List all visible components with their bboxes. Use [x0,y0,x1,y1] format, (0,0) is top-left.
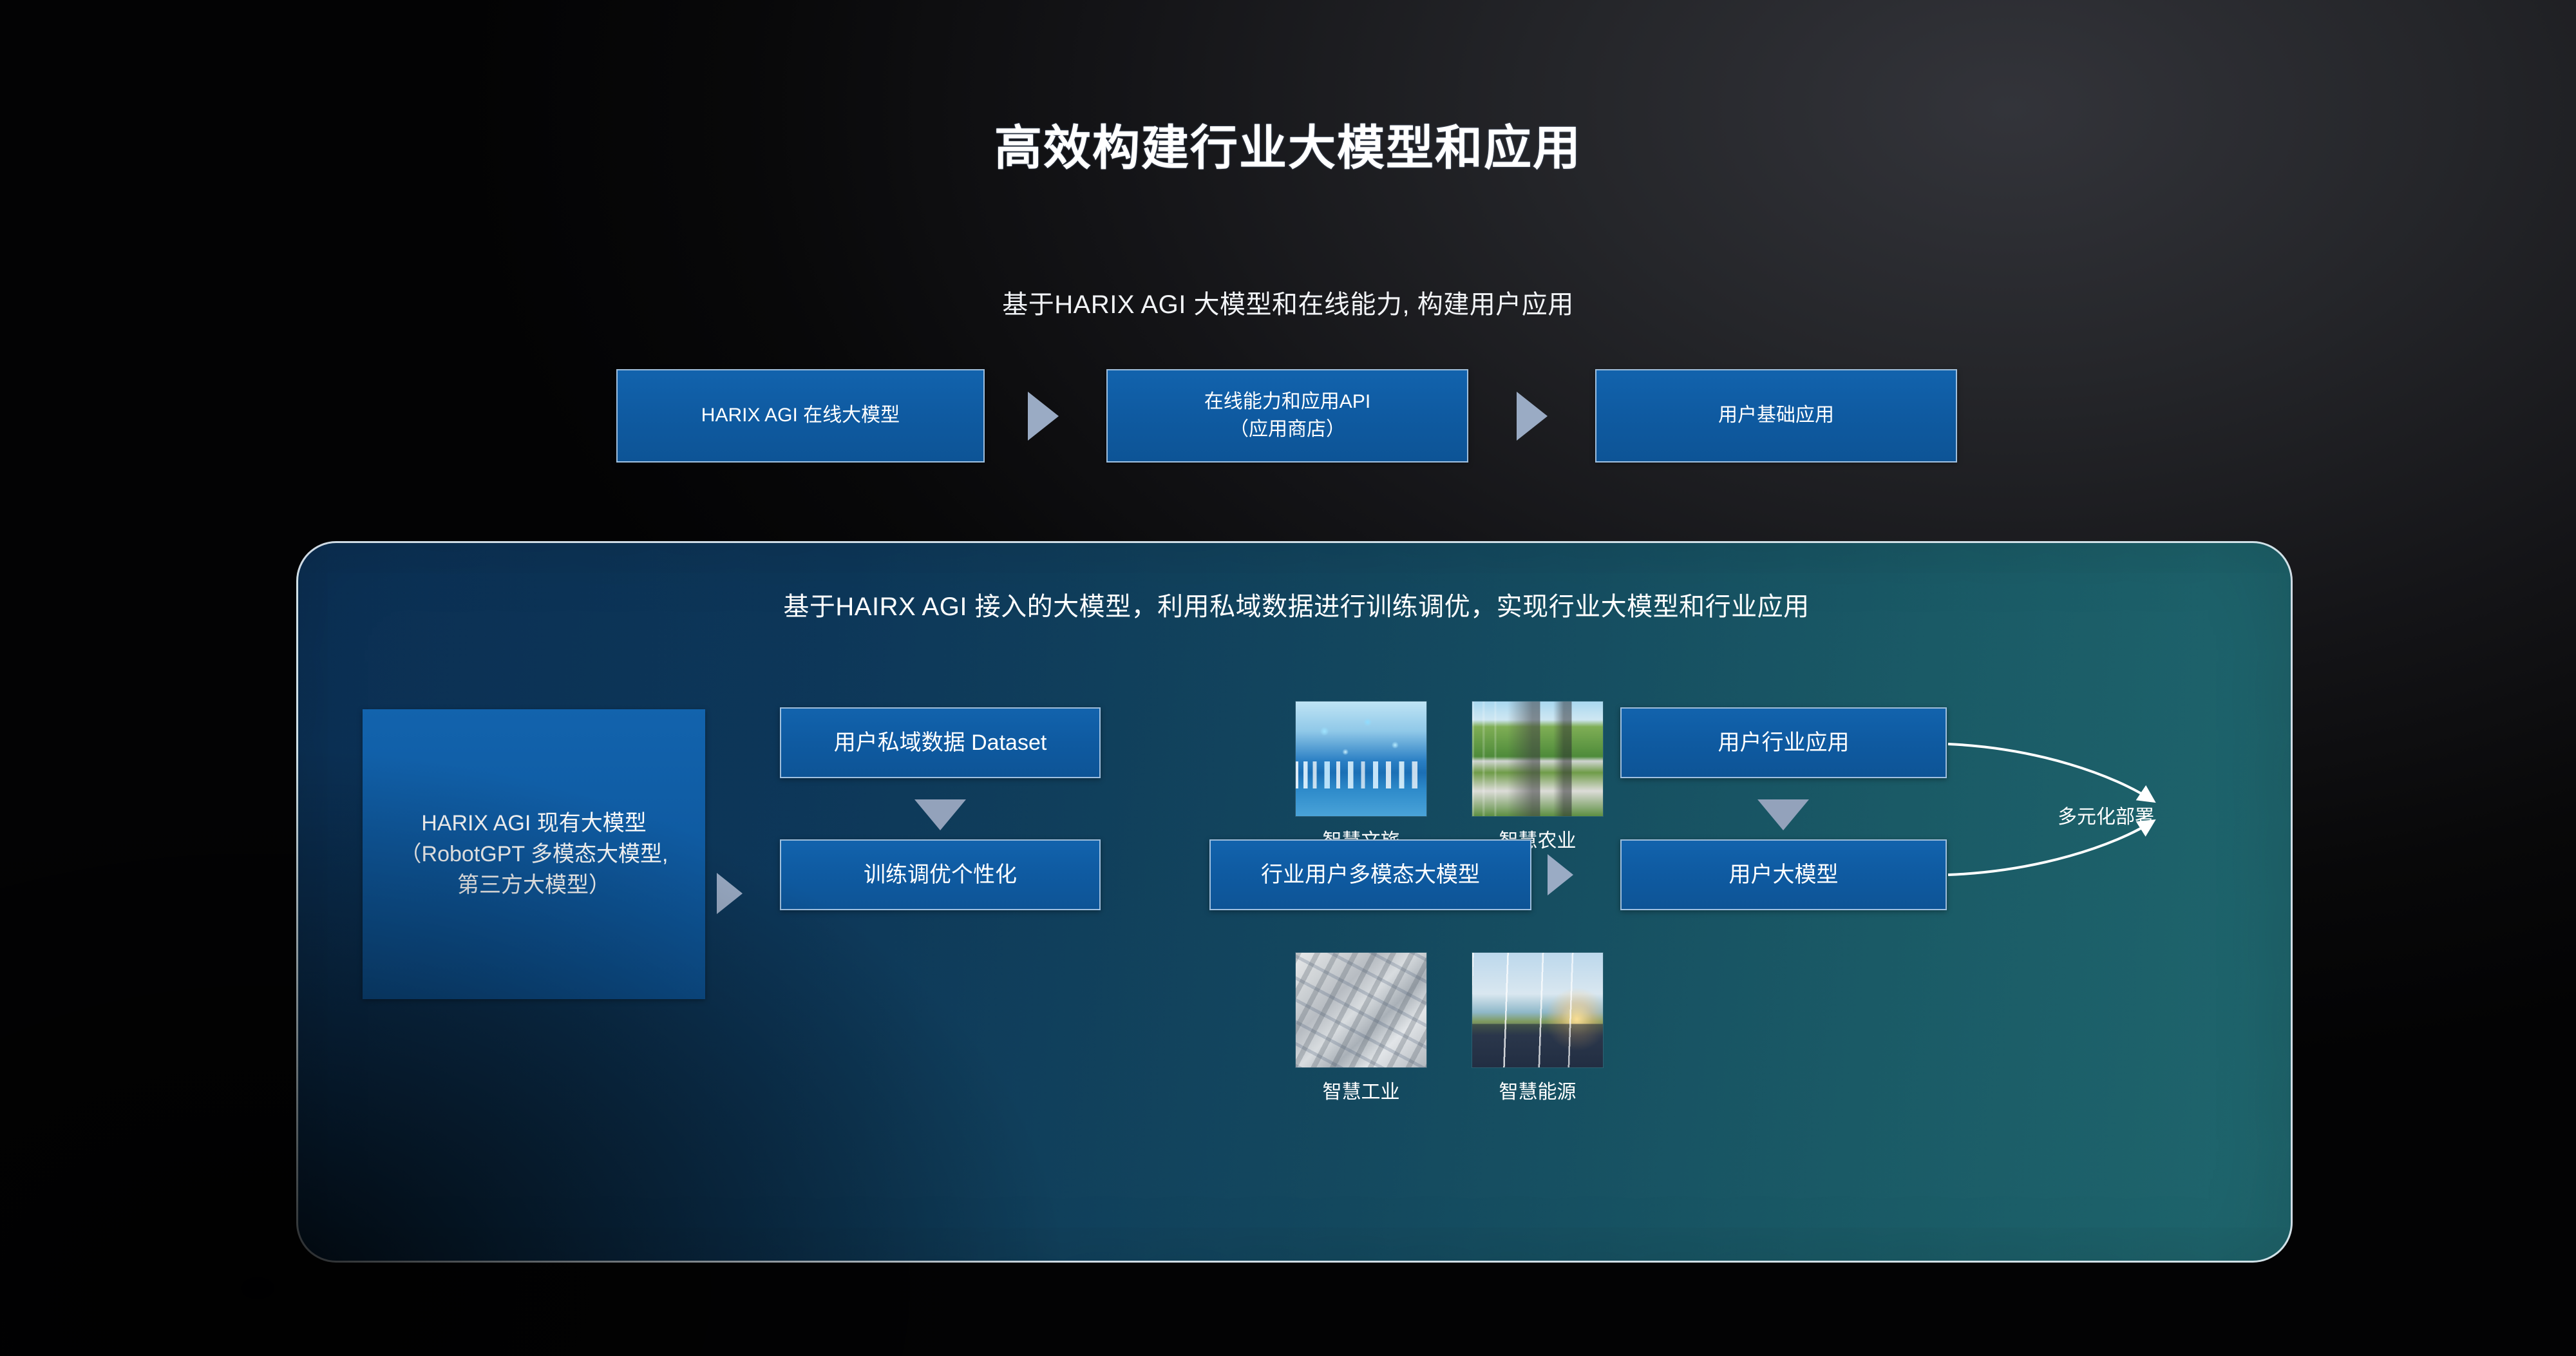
thumbnail-industry-caption: 智慧工业 [1269,1076,1453,1104]
thumbnail-industry[interactable] [1295,952,1427,1068]
top-step-2-box[interactable]: 在线能力和应用API （应用商店） [1106,369,1468,463]
industry-thumbnail-icon [1296,953,1426,1067]
thumbnail-energy-caption: 智慧能源 [1446,1076,1629,1104]
top-step-1-box[interactable]: HARIX AGI 在线大模型 [616,369,985,463]
page-title: 高效构建行业大模型和应用 [0,110,2576,178]
thumbnail-energy[interactable] [1472,952,1604,1068]
dataset-box[interactable]: 用户私域数据 Dataset [780,707,1101,778]
panel-arrow-center-to-right-icon [1548,854,1573,895]
user-industry-app-box[interactable]: 用户行业应用 [1620,707,1947,778]
app-to-model-arrow-icon [1757,799,1809,830]
main-panel: 基于HAIRX AGI 接入的大模型，利用私域数据进行训练调优，实现行业大模型和… [296,541,2293,1263]
top-step-2-label-line2: （应用商店） [1229,416,1345,444]
industry-multimodal-model-label: 行业用户多模态大模型 [1261,859,1480,890]
user-model-box[interactable]: 用户大模型 [1620,839,1947,910]
agriculture-thumbnail-icon [1472,702,1603,816]
energy-thumbnail-icon [1472,953,1603,1067]
subtitle: 基于HARIX AGI 大模型和在线能力, 构建用户应用 [0,283,2576,321]
top-step-2-label-line1: 在线能力和应用API [1204,388,1370,416]
user-model-label: 用户大模型 [1729,859,1839,890]
panel-heading: 基于HAIRX AGI 接入的大模型，利用私域数据进行训练调优，实现行业大模型和… [298,586,2295,623]
source-model-box[interactable]: HARIX AGI 现有大模型 （RobotGPT 多模态大模型, 第三方大模型… [363,709,705,999]
dataset-label: 用户私域数据 Dataset [834,727,1047,758]
slide-canvas: 高效构建行业大模型和应用 基于HARIX AGI 大模型和在线能力, 构建用户应… [0,0,2576,1356]
panel-arrow-source-to-dataset-icon [717,873,743,914]
dataset-to-training-arrow-icon [914,799,966,830]
top-arrow-1-icon [1028,392,1059,441]
top-step-1-label: HARIX AGI 在线大模型 [701,402,900,430]
source-model-line3: 第三方大模型） [457,870,611,901]
thumbnail-culture-tourism[interactable] [1295,701,1427,817]
thumbnail-agriculture[interactable] [1472,701,1604,817]
training-box[interactable]: 训练调优个性化 [780,839,1101,910]
deploy-label: 多元化部署 [2058,801,2154,829]
top-arrow-2-icon [1517,392,1548,441]
industry-multimodal-model-box[interactable]: 行业用户多模态大模型 [1209,839,1531,910]
source-model-line2: （RobotGPT 多模态大模型, [400,839,668,870]
user-industry-app-label: 用户行业应用 [1718,727,1850,758]
training-label: 训练调优个性化 [864,859,1017,890]
city-thumbnail-icon [1296,702,1426,816]
source-model-line1: HARIX AGI 现有大模型 [421,808,647,839]
top-step-3-box[interactable]: 用户基础应用 [1595,369,1957,463]
top-step-3-label: 用户基础应用 [1718,402,1834,430]
